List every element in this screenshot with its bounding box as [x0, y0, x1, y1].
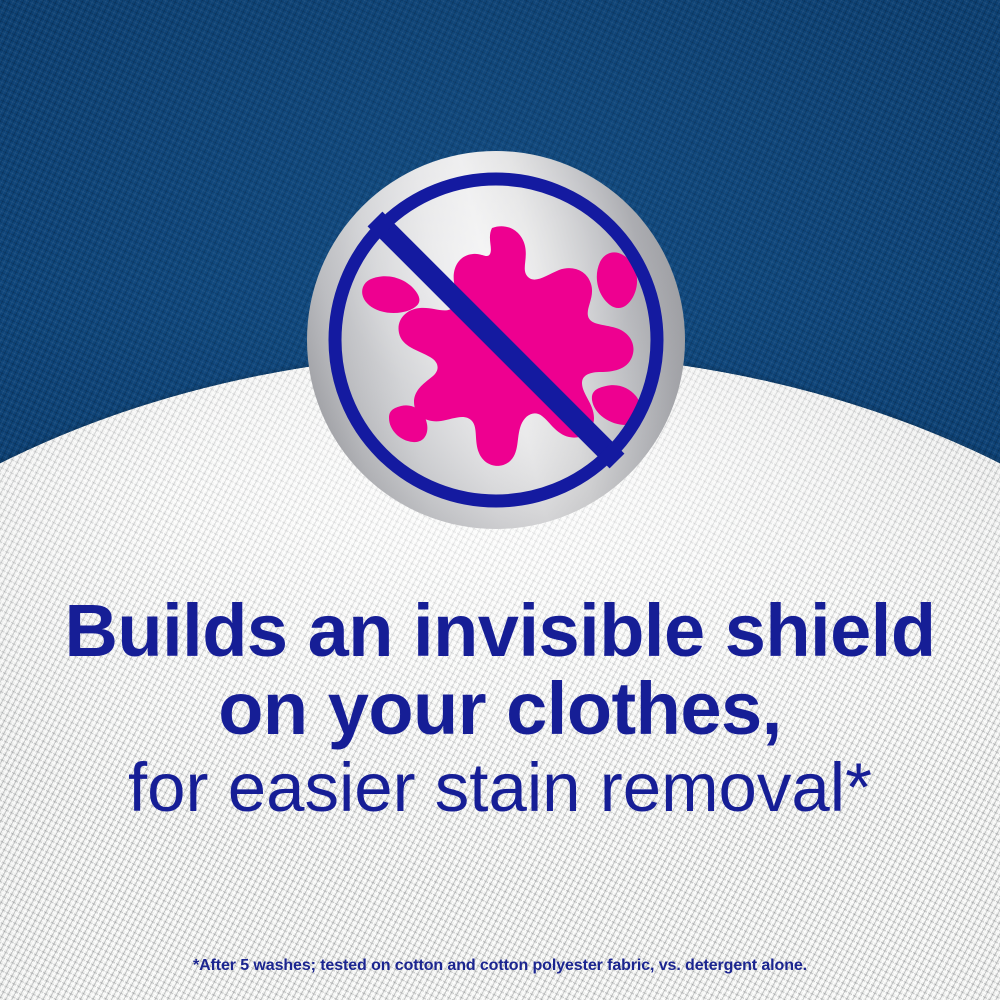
no-stain-badge	[306, 150, 686, 530]
headline-line-1: Builds an invisible shield	[0, 594, 1000, 667]
page-title: Builds an invisible shield on your cloth…	[0, 594, 1000, 822]
headline-line-3: for easier stain removal*	[0, 754, 1000, 822]
footnote-disclaimer: *After 5 washes; tested on cotton and co…	[0, 957, 1000, 975]
product-claim-banner: Builds an invisible shield on your cloth…	[0, 0, 1000, 1000]
headline-line-2: on your clothes,	[0, 672, 1000, 745]
